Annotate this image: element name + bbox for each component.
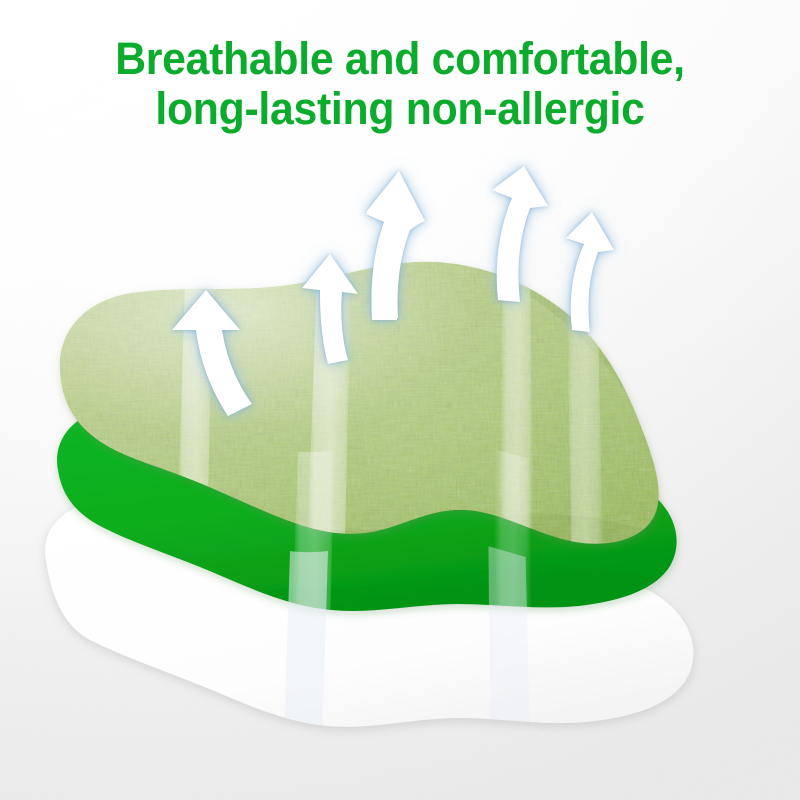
headline-line-1: Breathable and comfortable, (20, 34, 780, 84)
airflow-arrow-right (492, 166, 548, 302)
headline-line-2: long-lasting non-allergic (20, 84, 780, 134)
poster-root: Breathable and comfortable, long-lasting… (0, 0, 800, 800)
headline: Breathable and comfortable, long-lasting… (0, 34, 800, 134)
airflow-arrow-far-right (566, 212, 614, 332)
